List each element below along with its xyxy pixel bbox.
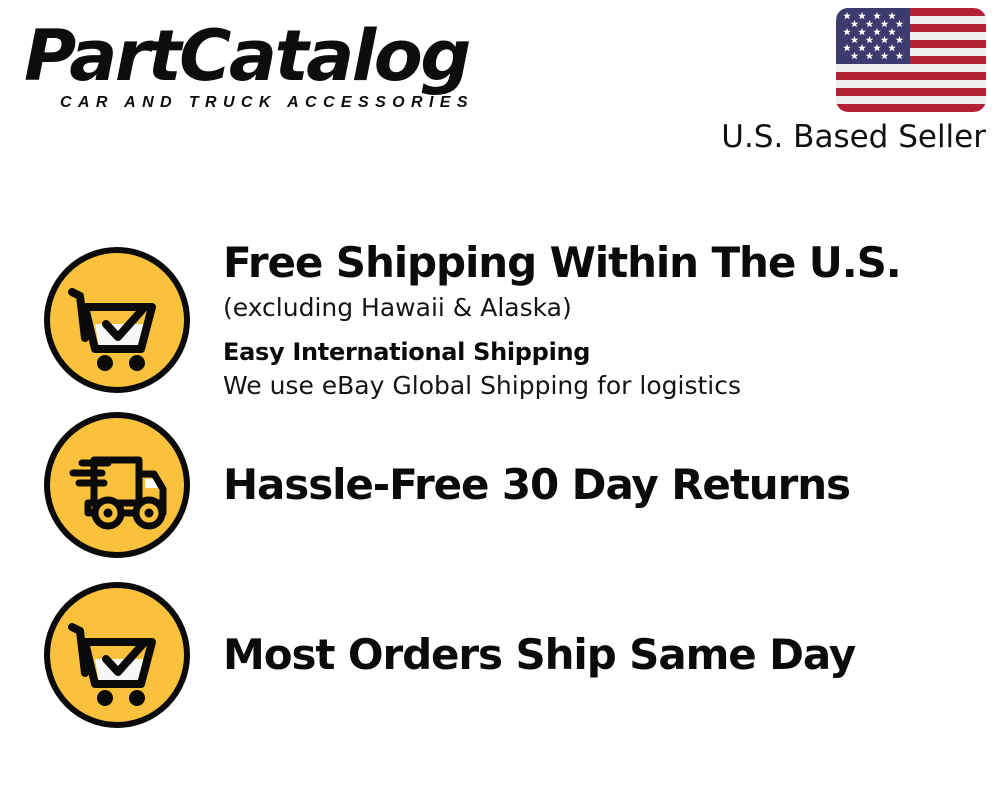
shopping-cart-check-icon xyxy=(42,580,192,730)
feature-secondary-title: Easy International Shipping xyxy=(223,336,901,368)
feature-secondary-subtitle: We use eBay Global Shipping for logistic… xyxy=(223,369,901,402)
feature-item-returns: Hassle-Free 30 Day Returns xyxy=(42,410,850,560)
brand-tagline: CAR AND TRUCK ACCESSORIES xyxy=(60,94,474,112)
feature-text-block: Free Shipping Within The U.S. (excluding… xyxy=(223,238,901,402)
us-based-seller-label: U.S. Based Seller xyxy=(716,118,986,156)
feature-title: Hassle-Free 30 Day Returns xyxy=(223,460,850,510)
feature-title: Free Shipping Within The U.S. xyxy=(223,238,901,288)
us-flag-icon xyxy=(836,8,986,112)
delivery-truck-icon xyxy=(42,410,192,560)
feature-item-free-shipping: Free Shipping Within The U.S. (excluding… xyxy=(42,238,901,402)
feature-text-block: Hassle-Free 30 Day Returns xyxy=(223,460,850,510)
brand-logo[interactable]: PartCatalog CAR AND TRUCK ACCESSORIES xyxy=(24,18,494,118)
us-based-seller-badge: U.S. Based Seller xyxy=(716,8,986,156)
feature-subtitle: (excluding Hawaii & Alaska) xyxy=(223,291,901,325)
brand-wordmark: PartCatalog xyxy=(24,18,503,94)
shopping-cart-check-icon xyxy=(42,245,192,395)
feature-item-same-day-ship: Most Orders Ship Same Day xyxy=(42,580,855,730)
feature-title: Most Orders Ship Same Day xyxy=(223,630,855,680)
page-header: PartCatalog CAR AND TRUCK ACCESSORIES xyxy=(0,0,1000,170)
feature-text-block: Most Orders Ship Same Day xyxy=(223,630,855,680)
